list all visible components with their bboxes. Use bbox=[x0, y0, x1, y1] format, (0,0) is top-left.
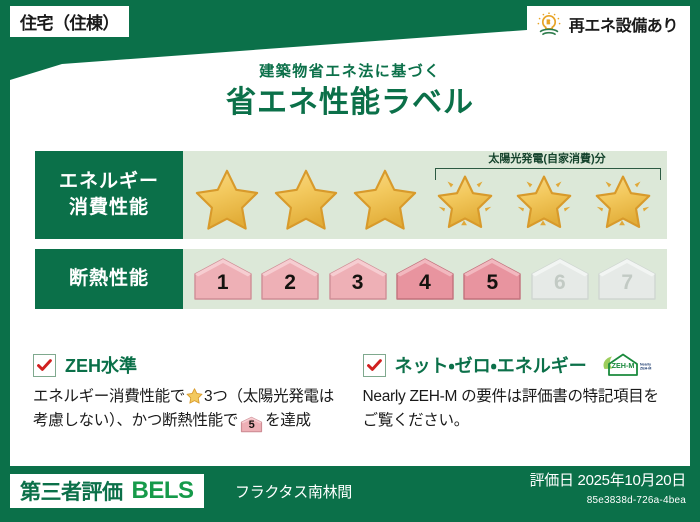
star-filled bbox=[193, 163, 261, 233]
insulation-badge-inline: 5 bbox=[240, 416, 263, 433]
svg-text:ZEH-M: ZEH-M bbox=[611, 361, 634, 370]
insulation-level-number: 5 bbox=[487, 272, 499, 302]
star-filled-solar bbox=[589, 163, 657, 233]
evaluation-date-label: 評価日 bbox=[530, 472, 574, 489]
cert-text-post: を達成 bbox=[265, 412, 311, 429]
insulation-level-badge: 2 bbox=[259, 256, 321, 302]
cert-text-starcount: 3つ（太陽光発電 bbox=[204, 388, 319, 405]
insulation-level-badge-achieved: 5 bbox=[461, 256, 523, 302]
energy-stars-area: 太陽光発電(自家消費)分 bbox=[183, 151, 667, 239]
renewable-badge-label: 再エネ設備あり bbox=[569, 12, 678, 36]
evaluation-info: 評価日 2025年10月20日 85e3838d-726a-4bea bbox=[530, 470, 686, 508]
insulation-level-number: 3 bbox=[352, 272, 364, 302]
cert-net-zero-energy: ネット・ゼロ・エネルギー ZEH-M Nearly ZEH-M Nearly Z… bbox=[363, 352, 671, 433]
bels-label: BELS bbox=[132, 477, 194, 505]
svg-text:ZEH-M: ZEH-M bbox=[640, 367, 651, 371]
cert-description: Nearly ZEH-M の要件は評価書の特記項目をご覧ください。 bbox=[363, 385, 671, 433]
insulation-level-number: 4 bbox=[419, 272, 431, 302]
insulation-performance-row: 断熱性能 1 bbox=[35, 249, 667, 309]
checkbox-checked bbox=[363, 354, 386, 377]
evaluation-date-value: 2025年10月20日 bbox=[578, 472, 686, 489]
sun-energy-icon bbox=[536, 11, 562, 37]
zeh-m-house-logo: ZEH-M Nearly ZEH-M bbox=[600, 352, 652, 378]
cert-title: ZEH水準 bbox=[65, 352, 137, 378]
energy-performance-row: エネルギー 消費性能 太陽光発電(自家消費)分 bbox=[35, 151, 667, 239]
cert-title: ネット・ゼロ・エネルギー bbox=[395, 352, 587, 378]
insulation-level-number: 7 bbox=[621, 272, 633, 302]
star-rating bbox=[183, 151, 667, 237]
star-filled-solar bbox=[510, 163, 578, 233]
insulation-level-number: 6 bbox=[554, 272, 566, 302]
third-party-label: 第三者評価 bbox=[20, 476, 123, 506]
energy-performance-label: 住宅（住棟） 再エネ設備あり 建築物省エネ法に基づく 省エネ性能ラベル bbox=[0, 0, 700, 522]
insulation-level-badge: 1 bbox=[192, 256, 254, 302]
evaluation-id: 85e3838d-726a-4bea bbox=[530, 494, 686, 508]
page-title: 省エネ性能ラベル bbox=[0, 84, 700, 122]
cert-text-pre: エネルギー消費性能で bbox=[33, 388, 185, 405]
rating-rows: エネルギー 消費性能 太陽光発電(自家消費)分 bbox=[35, 151, 667, 319]
energy-label-line1: エネルギー bbox=[59, 169, 159, 195]
evaluation-date: 評価日 2025年10月20日 bbox=[530, 470, 686, 493]
building-name: フラクタス南林間 bbox=[235, 474, 352, 508]
insulation-level-badge: 4 bbox=[394, 256, 456, 302]
insulation-level-number: 1 bbox=[217, 272, 229, 302]
star-filled bbox=[272, 163, 340, 233]
insulation-level-badge-inactive: 6 bbox=[529, 256, 591, 302]
star-filled-solar bbox=[431, 163, 499, 233]
check-icon bbox=[36, 357, 53, 374]
insulation-level-badge: 3 bbox=[327, 256, 389, 302]
cert-header: ネット・ゼロ・エネルギー ZEH-M Nearly ZEH-M bbox=[363, 352, 671, 378]
star-filled bbox=[351, 163, 419, 233]
category-tag: 住宅（住棟） bbox=[10, 6, 129, 37]
footer-bar: 第三者評価 BELS フラクタス南林間 評価日 2025年10月20日 85e3… bbox=[0, 466, 700, 522]
insulation-badge-inline-number: 5 bbox=[240, 416, 263, 435]
renewable-equipment-badge: 再エネ設備あり bbox=[527, 6, 690, 42]
insulation-performance-label-cell: 断熱性能 bbox=[35, 249, 183, 309]
cert-description: エネルギー消費性能で 3つ（太陽光発電は考慮しない）、かつ断熱性能で 5を達成 bbox=[33, 385, 341, 433]
certification-blocks: ZEH水準 エネルギー消費性能で 3つ（太陽光発電は考慮しない）、かつ断熱性能で… bbox=[33, 352, 670, 433]
bels-certification-mark: 第三者評価 BELS bbox=[10, 474, 204, 508]
check-icon bbox=[366, 357, 383, 374]
insulation-level-scale: 1 2 3 bbox=[183, 249, 667, 309]
insulation-label-line1: 断熱性能 bbox=[69, 266, 149, 292]
star-inline-icon bbox=[186, 387, 203, 404]
energy-performance-label-cell: エネルギー 消費性能 bbox=[35, 151, 183, 239]
insulation-levels-area: 1 2 3 bbox=[183, 249, 667, 309]
insulation-level-badge-inactive: 7 bbox=[596, 256, 658, 302]
title-block: 建築物省エネ法に基づく 省エネ性能ラベル bbox=[0, 64, 700, 121]
cert-header: ZEH水準 bbox=[33, 352, 341, 378]
label-subtitle: 建築物省エネ法に基づく bbox=[0, 64, 700, 81]
cert-zeh-standard: ZEH水準 エネルギー消費性能で 3つ（太陽光発電は考慮しない）、かつ断熱性能で… bbox=[33, 352, 341, 433]
insulation-level-number: 2 bbox=[284, 272, 296, 302]
energy-label-line2: 消費性能 bbox=[69, 195, 149, 221]
checkbox-checked bbox=[33, 354, 56, 377]
